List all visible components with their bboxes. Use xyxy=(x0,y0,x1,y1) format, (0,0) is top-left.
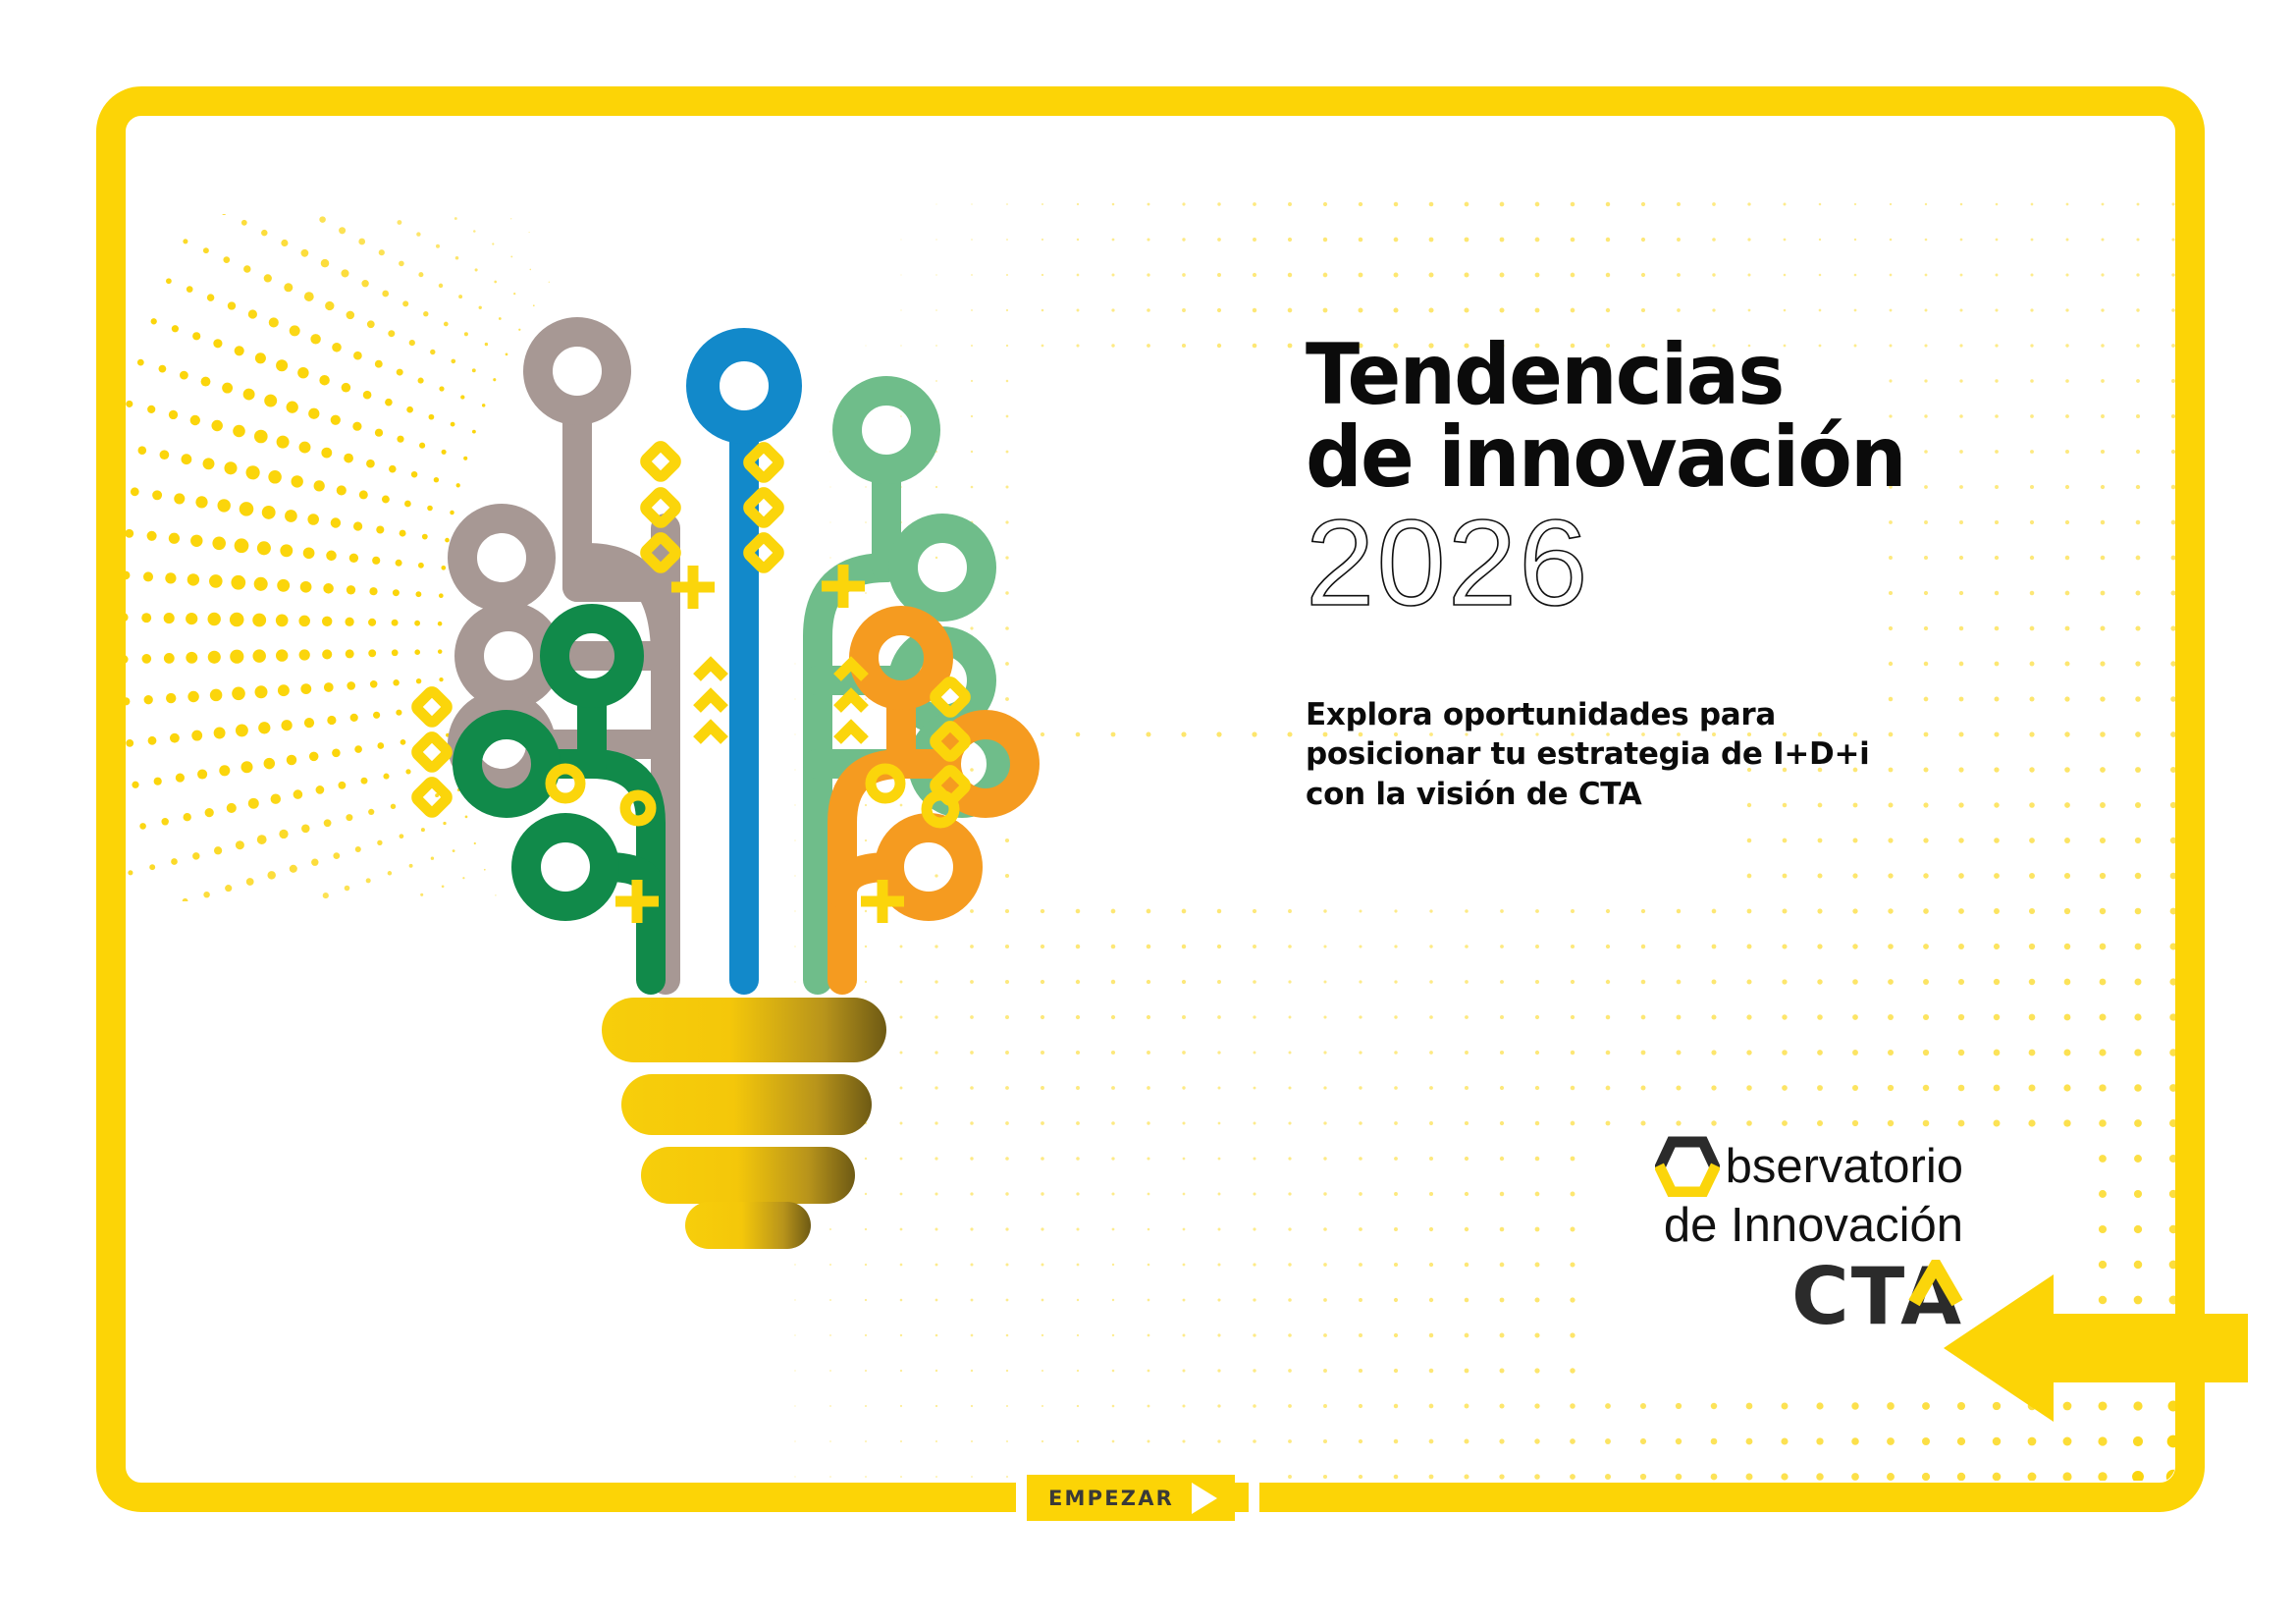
logo-word-innovacion: de Innovación xyxy=(1571,1199,1963,1254)
hexagon-o-icon xyxy=(1655,1136,1720,1197)
title-year: 2026 xyxy=(1306,502,2066,625)
title-line-2: de innovación xyxy=(1306,416,2006,499)
title-line-1: Tendencias xyxy=(1306,334,2006,416)
cover-page: Tendencias de innovación 2026 Explora op… xyxy=(0,0,2296,1624)
arrow-left-icon xyxy=(1944,1274,2248,1422)
page-subtitle: Explora oportunidades para posicionar tu… xyxy=(1306,695,1934,814)
chevron-accent-icon xyxy=(1908,1260,1963,1307)
bulb-base xyxy=(602,998,886,1249)
subtitle-line-2: posicionar tu estrategia de I+D+i xyxy=(1306,734,1934,774)
idea-bulb-illustration xyxy=(253,234,1333,1471)
empezar-gap-right xyxy=(1249,1469,1259,1528)
page-title: Tendencias de innovación 2026 xyxy=(1306,334,2052,625)
empezar-label: EMPEZAR xyxy=(1048,1487,1174,1510)
logo-word-observatorio: bservatorio xyxy=(1726,1143,1963,1191)
observatorio-logo: bservatorio de Innovación CTA xyxy=(1571,1134,1963,1336)
empezar-gap-left xyxy=(1016,1469,1027,1528)
empezar-button[interactable]: EMPEZAR xyxy=(1027,1475,1235,1521)
subtitle-line-1: Explora oportunidades para xyxy=(1306,695,1934,734)
subtitle-line-3: con la visión de CTA xyxy=(1306,775,1934,814)
play-triangle-icon xyxy=(1192,1483,1217,1514)
